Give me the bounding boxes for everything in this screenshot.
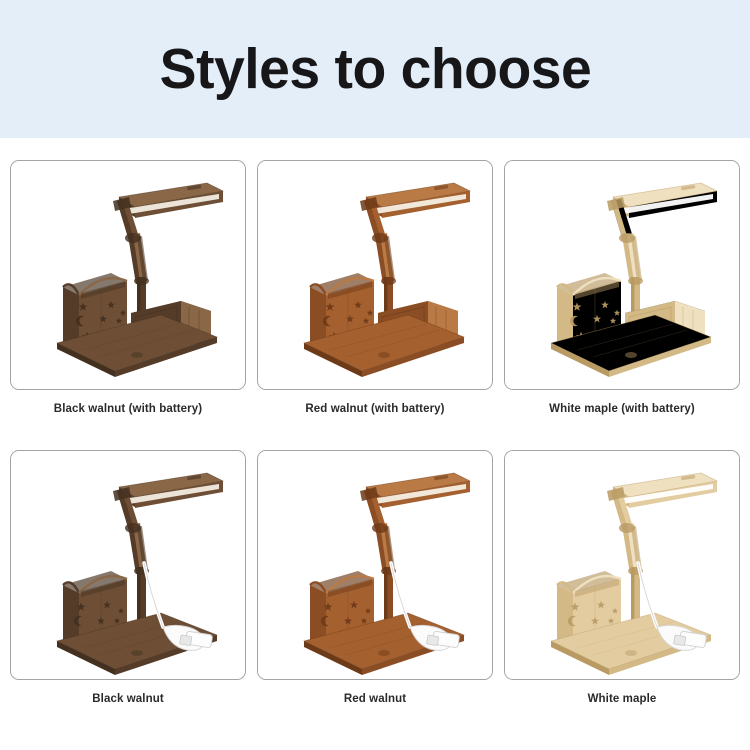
- lamp-image-red-walnut: [258, 451, 493, 680]
- product-row-battery: Black walnut (with battery): [0, 160, 750, 415]
- lamp-image-red-walnut-battery: [258, 161, 493, 390]
- page-title: Styles to choose: [159, 41, 591, 98]
- product-card-white-maple[interactable]: [504, 450, 740, 680]
- product-card-white-maple-battery[interactable]: [504, 160, 740, 390]
- product-cell[interactable]: White maple (with battery): [504, 160, 740, 415]
- product-card-black-walnut[interactable]: [10, 450, 246, 680]
- product-label: Red walnut: [344, 693, 406, 705]
- lamp-image-white-maple: [505, 451, 740, 680]
- header-banner: Styles to choose: [0, 0, 750, 138]
- product-label: White maple (with battery): [549, 403, 695, 415]
- product-card-black-walnut-battery[interactable]: [10, 160, 246, 390]
- product-label: White maple: [588, 693, 657, 705]
- product-cell[interactable]: Red walnut: [257, 450, 493, 705]
- product-card-red-walnut[interactable]: [257, 450, 493, 680]
- styles-to-choose-page: Styles to choose: [0, 0, 750, 750]
- lamp-image-white-maple-battery: [505, 161, 740, 390]
- product-row-usb: Black walnut: [0, 450, 750, 705]
- product-label: Red walnut (with battery): [305, 403, 444, 415]
- product-cell[interactable]: Red walnut (with battery): [257, 160, 493, 415]
- product-card-red-walnut-battery[interactable]: [257, 160, 493, 390]
- product-cell[interactable]: Black walnut: [10, 450, 246, 705]
- product-label: Black walnut: [92, 693, 164, 705]
- lamp-image-black-walnut-battery: [11, 161, 246, 390]
- product-grid: Black walnut (with battery): [0, 138, 750, 705]
- product-cell[interactable]: Black walnut (with battery): [10, 160, 246, 415]
- lamp-image-black-walnut: [11, 451, 246, 680]
- product-cell[interactable]: White maple: [504, 450, 740, 705]
- product-label: Black walnut (with battery): [54, 403, 202, 415]
